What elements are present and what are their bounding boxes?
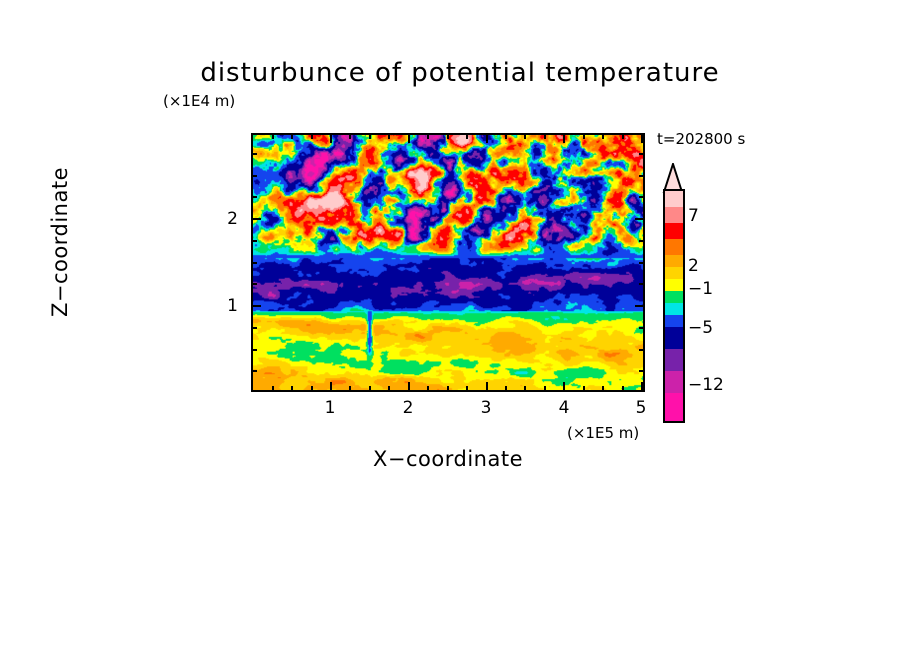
y-tick xyxy=(252,349,257,351)
colorbar-band xyxy=(665,315,683,327)
x-tick xyxy=(349,134,351,139)
contour-plot-area xyxy=(251,133,645,392)
x-tick xyxy=(622,134,624,139)
x-tick xyxy=(466,386,468,391)
x-tick xyxy=(330,134,332,143)
y-tick xyxy=(252,305,261,307)
y-tick xyxy=(639,262,644,264)
x-tick xyxy=(486,134,488,143)
temperature-disturbance-field xyxy=(253,135,643,390)
colorbar-band xyxy=(665,393,683,421)
y-tick xyxy=(252,240,257,242)
y-tick xyxy=(252,175,257,177)
colorbar-tick-label: −5 xyxy=(688,318,713,338)
x-tick xyxy=(291,134,293,139)
x-tick xyxy=(563,382,565,391)
y-tick xyxy=(252,327,257,329)
x-tick xyxy=(349,386,351,391)
colorbar-band xyxy=(665,191,683,207)
x-tick xyxy=(272,386,274,391)
x-axis-unit-label: (×1E5 m) xyxy=(567,424,639,442)
y-tick xyxy=(639,240,644,242)
x-tick xyxy=(369,386,371,391)
colorbar-band xyxy=(665,223,683,239)
x-tick xyxy=(466,134,468,139)
x-tick xyxy=(408,382,410,391)
y-tick-label: 1 xyxy=(208,296,238,316)
y-tick-label: 2 xyxy=(208,209,238,229)
colorbar-band xyxy=(665,371,683,393)
y-tick xyxy=(252,370,257,372)
x-tick xyxy=(486,382,488,391)
x-tick xyxy=(524,134,526,139)
colorbar-band xyxy=(665,291,683,303)
x-tick-label: 4 xyxy=(549,398,579,418)
x-tick xyxy=(544,386,546,391)
x-tick xyxy=(602,134,604,139)
colorbar-band xyxy=(665,279,683,291)
y-tick xyxy=(639,349,644,351)
colorbar-tick-label: 2 xyxy=(688,256,699,276)
y-tick xyxy=(639,327,644,329)
colorbar-tick-label: −1 xyxy=(688,279,713,299)
x-tick xyxy=(524,386,526,391)
x-tick xyxy=(330,382,332,391)
colorbar-band xyxy=(665,349,683,371)
colorbar-tick-label: −12 xyxy=(688,375,724,395)
colorbar-band xyxy=(665,255,683,267)
x-tick xyxy=(408,134,410,143)
y-tick xyxy=(252,153,257,155)
x-tick-label: 2 xyxy=(393,398,423,418)
colorbar-band xyxy=(665,303,683,315)
y-tick xyxy=(639,175,644,177)
x-axis-title: X−coordinate xyxy=(251,447,645,471)
x-tick xyxy=(427,386,429,391)
x-tick-label: 3 xyxy=(471,398,501,418)
x-tick xyxy=(427,134,429,139)
x-tick xyxy=(369,134,371,139)
page-title: disturbunce of potential temperature xyxy=(160,58,760,88)
colorbar-band xyxy=(665,207,683,223)
x-tick xyxy=(544,134,546,139)
y-tick xyxy=(639,196,644,198)
x-tick xyxy=(505,386,507,391)
x-tick xyxy=(505,134,507,139)
x-tick xyxy=(602,386,604,391)
x-tick xyxy=(447,134,449,139)
y-tick xyxy=(635,218,644,220)
x-tick xyxy=(311,134,313,139)
x-tick xyxy=(583,134,585,139)
colorbar-band xyxy=(665,327,683,349)
colorbar-bands xyxy=(663,189,685,423)
x-tick xyxy=(447,386,449,391)
y-tick xyxy=(639,283,644,285)
x-tick xyxy=(622,386,624,391)
y-tick xyxy=(252,218,261,220)
y-tick xyxy=(639,153,644,155)
y-tick xyxy=(252,196,257,198)
x-tick xyxy=(563,134,565,143)
y-axis-unit-label: (×1E4 m) xyxy=(163,92,235,110)
y-tick xyxy=(252,262,257,264)
x-tick-label: 1 xyxy=(315,398,345,418)
colorbar-band xyxy=(665,267,683,279)
x-tick xyxy=(291,386,293,391)
figure-root: disturbunce of potential temperature (×1… xyxy=(0,0,904,654)
y-tick xyxy=(639,370,644,372)
x-tick xyxy=(388,386,390,391)
colorbar-band xyxy=(665,239,683,255)
x-tick xyxy=(641,134,643,143)
x-tick xyxy=(272,134,274,139)
x-tick-label: 5 xyxy=(626,398,656,418)
x-tick xyxy=(641,382,643,391)
colorbar-tick-label: 7 xyxy=(688,206,699,226)
y-axis-title: Z−coordinate xyxy=(48,142,72,342)
x-tick xyxy=(388,134,390,139)
timestamp-label: t=202800 s xyxy=(657,130,745,148)
y-tick xyxy=(252,283,257,285)
y-tick xyxy=(635,305,644,307)
x-tick xyxy=(583,386,585,391)
x-tick xyxy=(311,386,313,391)
